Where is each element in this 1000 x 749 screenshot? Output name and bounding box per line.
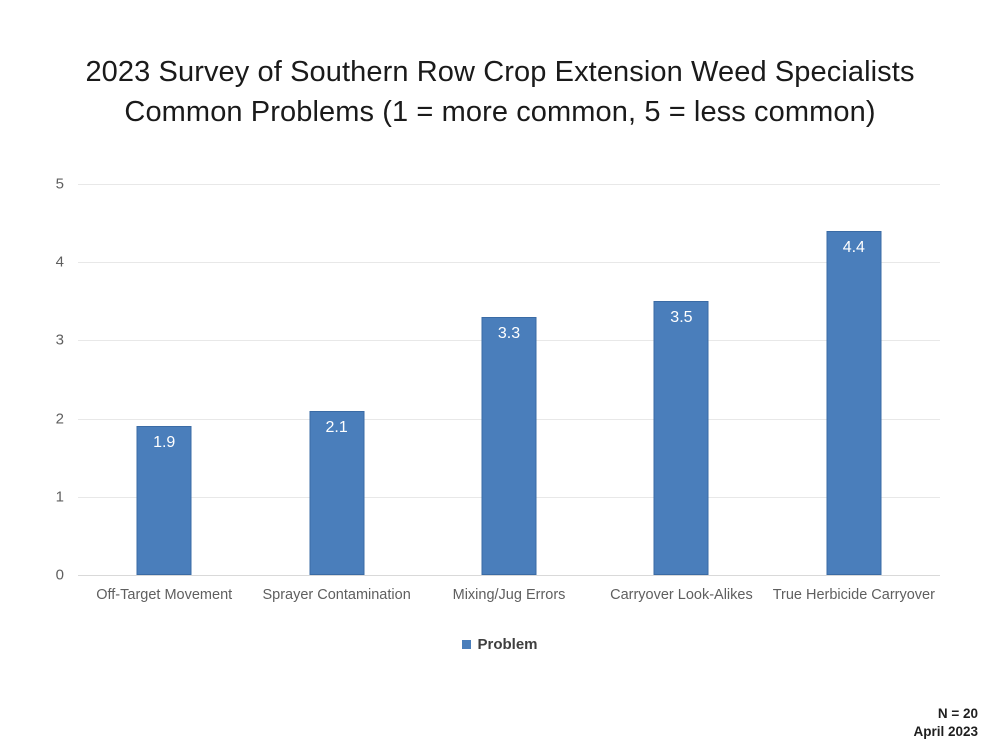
chart-title-line-2: Common Problems (1 = more common, 5 = le… [0,92,1000,132]
bar-sprayer-contamination[interactable]: 2.1 [309,411,364,575]
x-axis-label-2: Mixing/Jug Errors [423,585,595,605]
y-axis-tick-3: 3 [4,332,64,349]
footnote-date: April 2023 [913,723,978,741]
bar-slot-2: 3.3 [423,184,595,575]
bar-value-label: 3.5 [655,309,708,327]
bar-slot-4: 4.4 [768,184,940,575]
chart-title: 2023 Survey of Southern Row Crop Extensi… [0,52,1000,132]
x-axis-label-1: Sprayer Contamination [250,585,422,605]
y-axis-tick-1: 1 [4,488,64,505]
legend-swatch-icon [462,640,471,649]
bar-true-herbicide-carryover[interactable]: 4.4 [826,231,881,575]
bar-carryover-look-alikes[interactable]: 3.5 [654,301,709,575]
y-axis-tick-2: 2 [4,410,64,427]
slide-canvas: 2023 Survey of Southern Row Crop Extensi… [0,0,1000,749]
bar-value-label: 1.9 [138,434,191,452]
bar-mixing-jug-errors[interactable]: 3.3 [482,317,537,575]
bar-value-label: 3.3 [483,325,536,343]
y-axis-tick-5: 5 [4,176,64,193]
gridline-0-baseline [78,575,940,576]
x-axis-label-4: True Herbicide Carryover [768,585,940,605]
bar-off-target-movement[interactable]: 1.9 [137,426,192,575]
y-axis-tick-4: 4 [4,254,64,271]
plot-area: 5 4 3 2 1 0 1.9 2.1 3.3 [78,184,940,575]
bar-value-label: 2.1 [310,419,363,437]
footnote-sample-size: N = 20 [913,705,978,723]
chart-title-line-1: 2023 Survey of Southern Row Crop Extensi… [0,52,1000,92]
bar-slot-3: 3.5 [595,184,767,575]
y-axis-tick-0: 0 [4,567,64,584]
bar-slot-1: 2.1 [250,184,422,575]
x-axis-label-0: Off-Target Movement [78,585,250,605]
x-axis-label-3: Carryover Look-Alikes [595,585,767,605]
x-axis-labels: Off-Target Movement Sprayer Contaminatio… [78,585,940,605]
bar-value-label: 4.4 [827,239,880,257]
bar-slot-0: 1.9 [78,184,250,575]
bar-series-problem: 1.9 2.1 3.3 3.5 4.4 [78,184,940,575]
legend-label-problem[interactable]: Problem [477,636,537,653]
chart-footnote: N = 20 April 2023 [913,705,978,741]
chart-legend: Problem [0,636,1000,653]
